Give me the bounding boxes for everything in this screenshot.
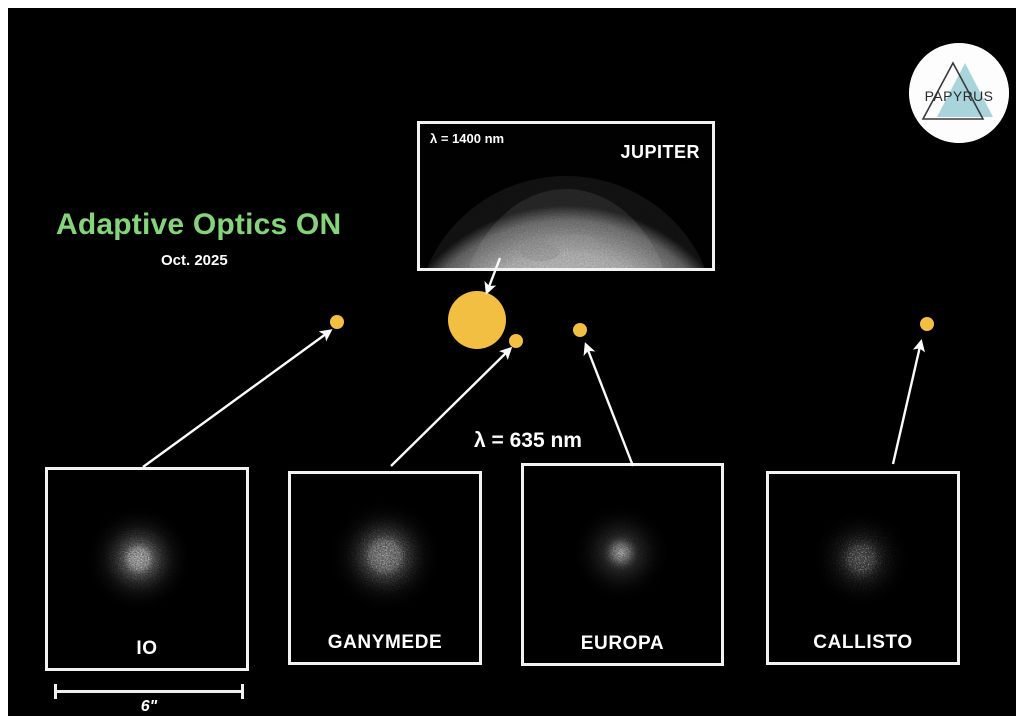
- slide-background: Adaptive Optics ON Oct. 2025 λ = 1400 nm…: [8, 8, 1016, 716]
- callisto-dot[interactable]: [920, 317, 934, 331]
- europa-panel-label: EUROPA: [524, 633, 721, 655]
- ganymede-image-panel[interactable]: GANYMEDE: [288, 471, 482, 665]
- arrow-europa: [586, 345, 633, 466]
- jupiter-object-label: JUPITER: [620, 142, 700, 163]
- date-subtitle: Oct. 2025: [161, 252, 341, 269]
- callisto-panel-label: CALLISTO: [769, 632, 957, 654]
- arrow-io: [143, 331, 330, 467]
- logo-text: PAPYRUS: [925, 88, 994, 104]
- page-title: Adaptive Optics ON: [56, 208, 341, 242]
- scale-bar-label: 6": [54, 698, 244, 716]
- ganymede-panel-label: GANYMEDE: [291, 632, 479, 654]
- callisto-image-panel[interactable]: CALLISTO: [766, 471, 960, 665]
- title-block: Adaptive Optics ON Oct. 2025: [56, 208, 341, 269]
- slide-canvas: Adaptive Optics ON Oct. 2025 λ = 1400 nm…: [0, 0, 1024, 724]
- jupiter-image-panel[interactable]: λ = 1400 nm JUPITER: [417, 121, 715, 271]
- papyrus-logo-mark: PAPYRUS: [909, 43, 1009, 143]
- scale-bar-cap-left: [54, 684, 57, 699]
- scale-bar-rule: [54, 690, 244, 693]
- jupiter-disk[interactable]: [448, 291, 506, 349]
- moons-wavelength-label: λ = 635 nm: [474, 429, 582, 453]
- scale-bar-cap-right: [241, 684, 244, 699]
- europa-image-panel[interactable]: EUROPA: [521, 463, 724, 666]
- io-panel-label: IO: [48, 638, 246, 660]
- io-dot[interactable]: [330, 315, 344, 329]
- arrow-callisto: [893, 342, 921, 464]
- ganymede-dot[interactable]: [509, 334, 523, 348]
- io-image-panel[interactable]: IO: [45, 467, 249, 671]
- europa-dot[interactable]: [573, 323, 587, 337]
- papyrus-logo[interactable]: PAPYRUS: [909, 43, 1009, 143]
- scale-bar: 6": [54, 684, 244, 716]
- jupiter-wavelength-label: λ = 1400 nm: [430, 131, 504, 146]
